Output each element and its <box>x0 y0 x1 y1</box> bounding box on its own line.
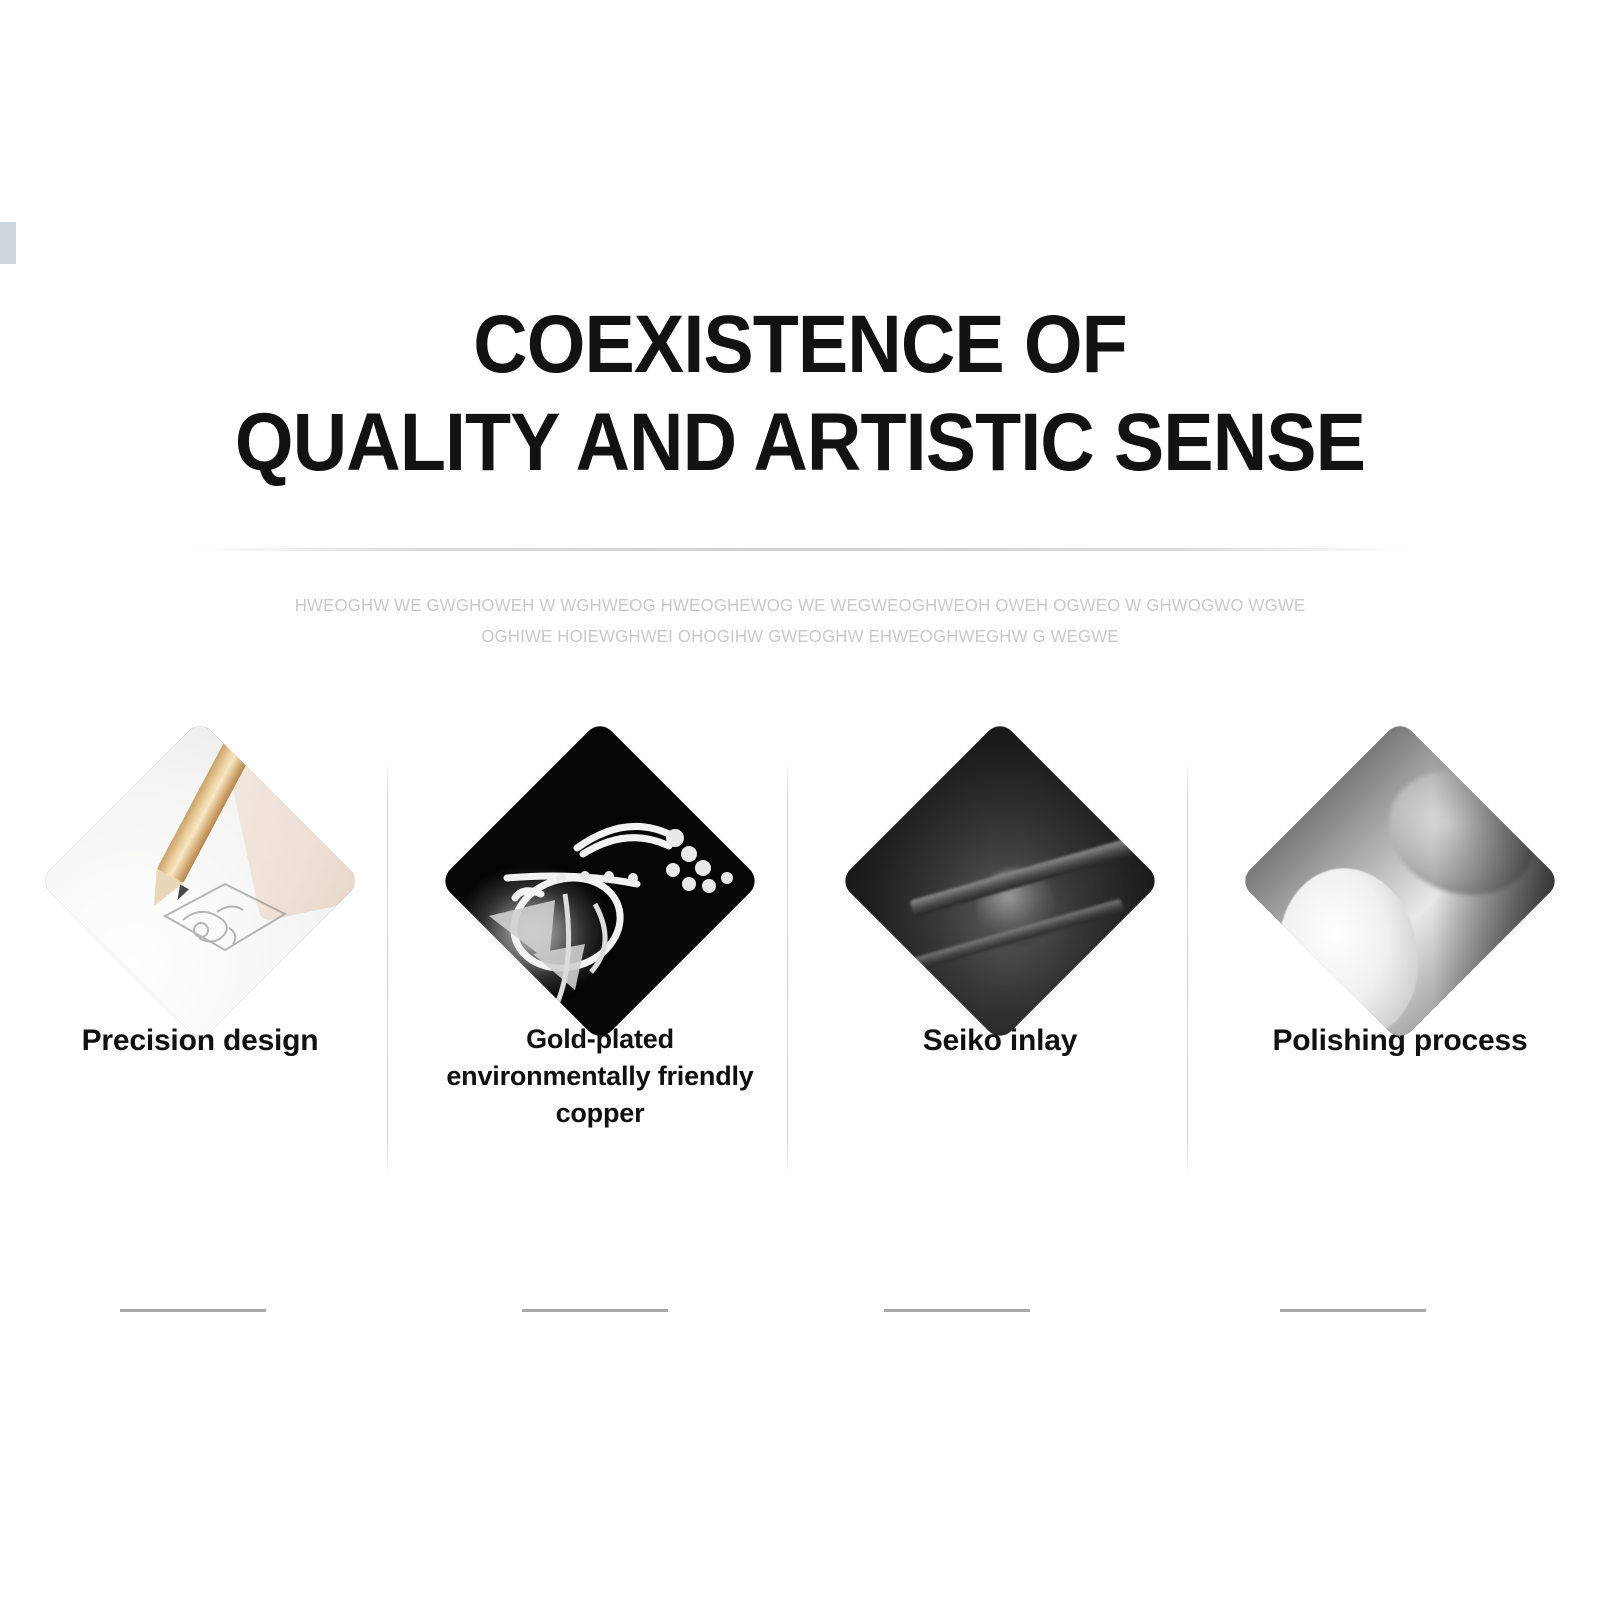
feature-column-polishing-process[interactable]: Polishing process <box>1200 700 1600 1220</box>
feature-row: Precision design <box>0 700 1600 1220</box>
subtitle-block: HWEOGHW WE GWGHOWEH W WGHWEOG HWEOGHEWOG… <box>32 590 1568 652</box>
diamond-thumbnail-gold-plated-copper <box>484 765 716 997</box>
image-stone-setting-workbench <box>839 720 1161 1042</box>
feature-underline-dash <box>120 1309 266 1312</box>
sketch-lines-icon <box>155 876 295 968</box>
feature-column-precision-design[interactable]: Precision design <box>0 700 400 1220</box>
feature-underline-dash <box>884 1309 1030 1312</box>
diamond-thumbnail-polishing-process <box>1284 765 1516 997</box>
image-silver-jewelry <box>439 720 761 1042</box>
feature-column-gold-plated-copper[interactable]: Gold-plated environmentally friendly cop… <box>400 700 800 1220</box>
page-title-line-1: COEXISTENCE OF <box>64 296 1536 394</box>
diamond-thumbnail-precision-design <box>84 765 316 997</box>
feature-column-seiko-inlay[interactable]: Seiko inlay <box>800 700 1200 1220</box>
image-polishing-wheel <box>1239 720 1561 1042</box>
image-pencil-sketch <box>39 720 361 1042</box>
page-title: COEXISTENCE OF QUALITY AND ARTISTIC SENS… <box>0 296 1600 492</box>
feature-underline-dash <box>522 1309 668 1312</box>
left-edge-accent-tab <box>0 222 16 264</box>
page-title-line-2: QUALITY AND ARTISTIC SENSE <box>64 394 1536 492</box>
feature-underline-dash <box>1280 1309 1426 1312</box>
jewelry-illustration-icon <box>439 720 761 1042</box>
diamond-thumbnail-seiko-inlay <box>884 765 1116 997</box>
subtitle-line-1: HWEOGHW WE GWGHOWEH W WGHWEOG HWEOGHEWOG… <box>32 590 1568 621</box>
title-divider-rule <box>185 548 1415 551</box>
subtitle-line-2: OGHIWE HOIEWGHWEI OHOGIHW GWEOGHW EHWEOG… <box>32 621 1568 652</box>
